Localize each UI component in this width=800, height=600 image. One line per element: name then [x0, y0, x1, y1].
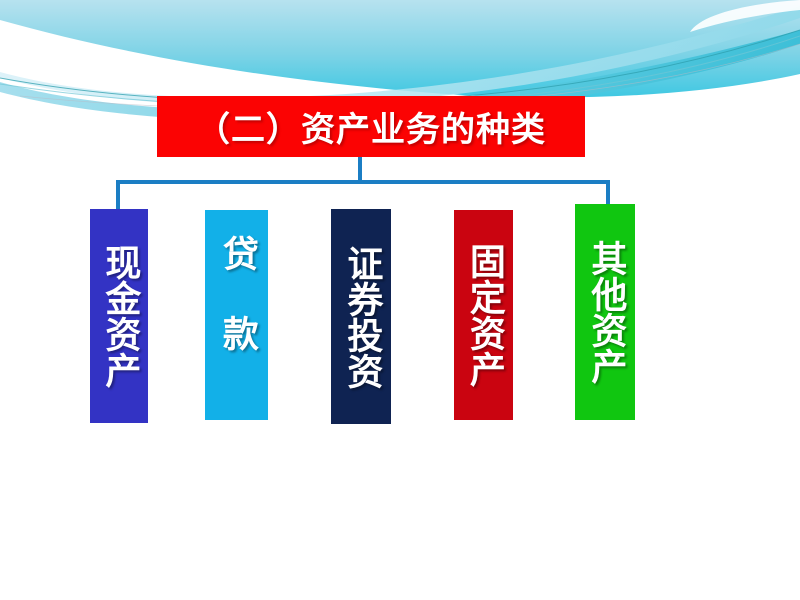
connector-horizontal [116, 180, 610, 184]
connector-drop-left [116, 180, 120, 211]
category-label-cash-assets: 现金资产 [101, 244, 138, 388]
wave-ribbon-light [0, 6, 800, 106]
wave-hairline-1 [0, 30, 800, 102]
category-box-loans[interactable]: 贷款 [205, 210, 268, 420]
category-box-other-assets[interactable]: 其他资产 [575, 204, 635, 420]
category-box-securities-investment[interactable]: 证券投资 [331, 209, 391, 424]
title-banner: （二）资产业务的种类 [157, 96, 585, 157]
category-label-securities-investment: 证券投资 [343, 245, 380, 389]
category-box-cash-assets[interactable]: 现金资产 [90, 209, 148, 423]
category-box-fixed-assets[interactable]: 固定资产 [454, 210, 513, 420]
page-title: （二）资产业务的种类 [196, 102, 546, 151]
category-label-loans: 贷款 [218, 235, 255, 395]
wave-sky-shape [0, 0, 800, 98]
category-label-other-assets: 其他资产 [587, 240, 624, 384]
connector-drop-right [606, 180, 610, 206]
wave-corner-sliver [690, 0, 800, 32]
category-label-fixed-assets: 固定资产 [465, 243, 502, 387]
slide-canvas: （二）资产业务的种类 现金资产贷款证券投资固定资产其他资产 [0, 0, 800, 600]
